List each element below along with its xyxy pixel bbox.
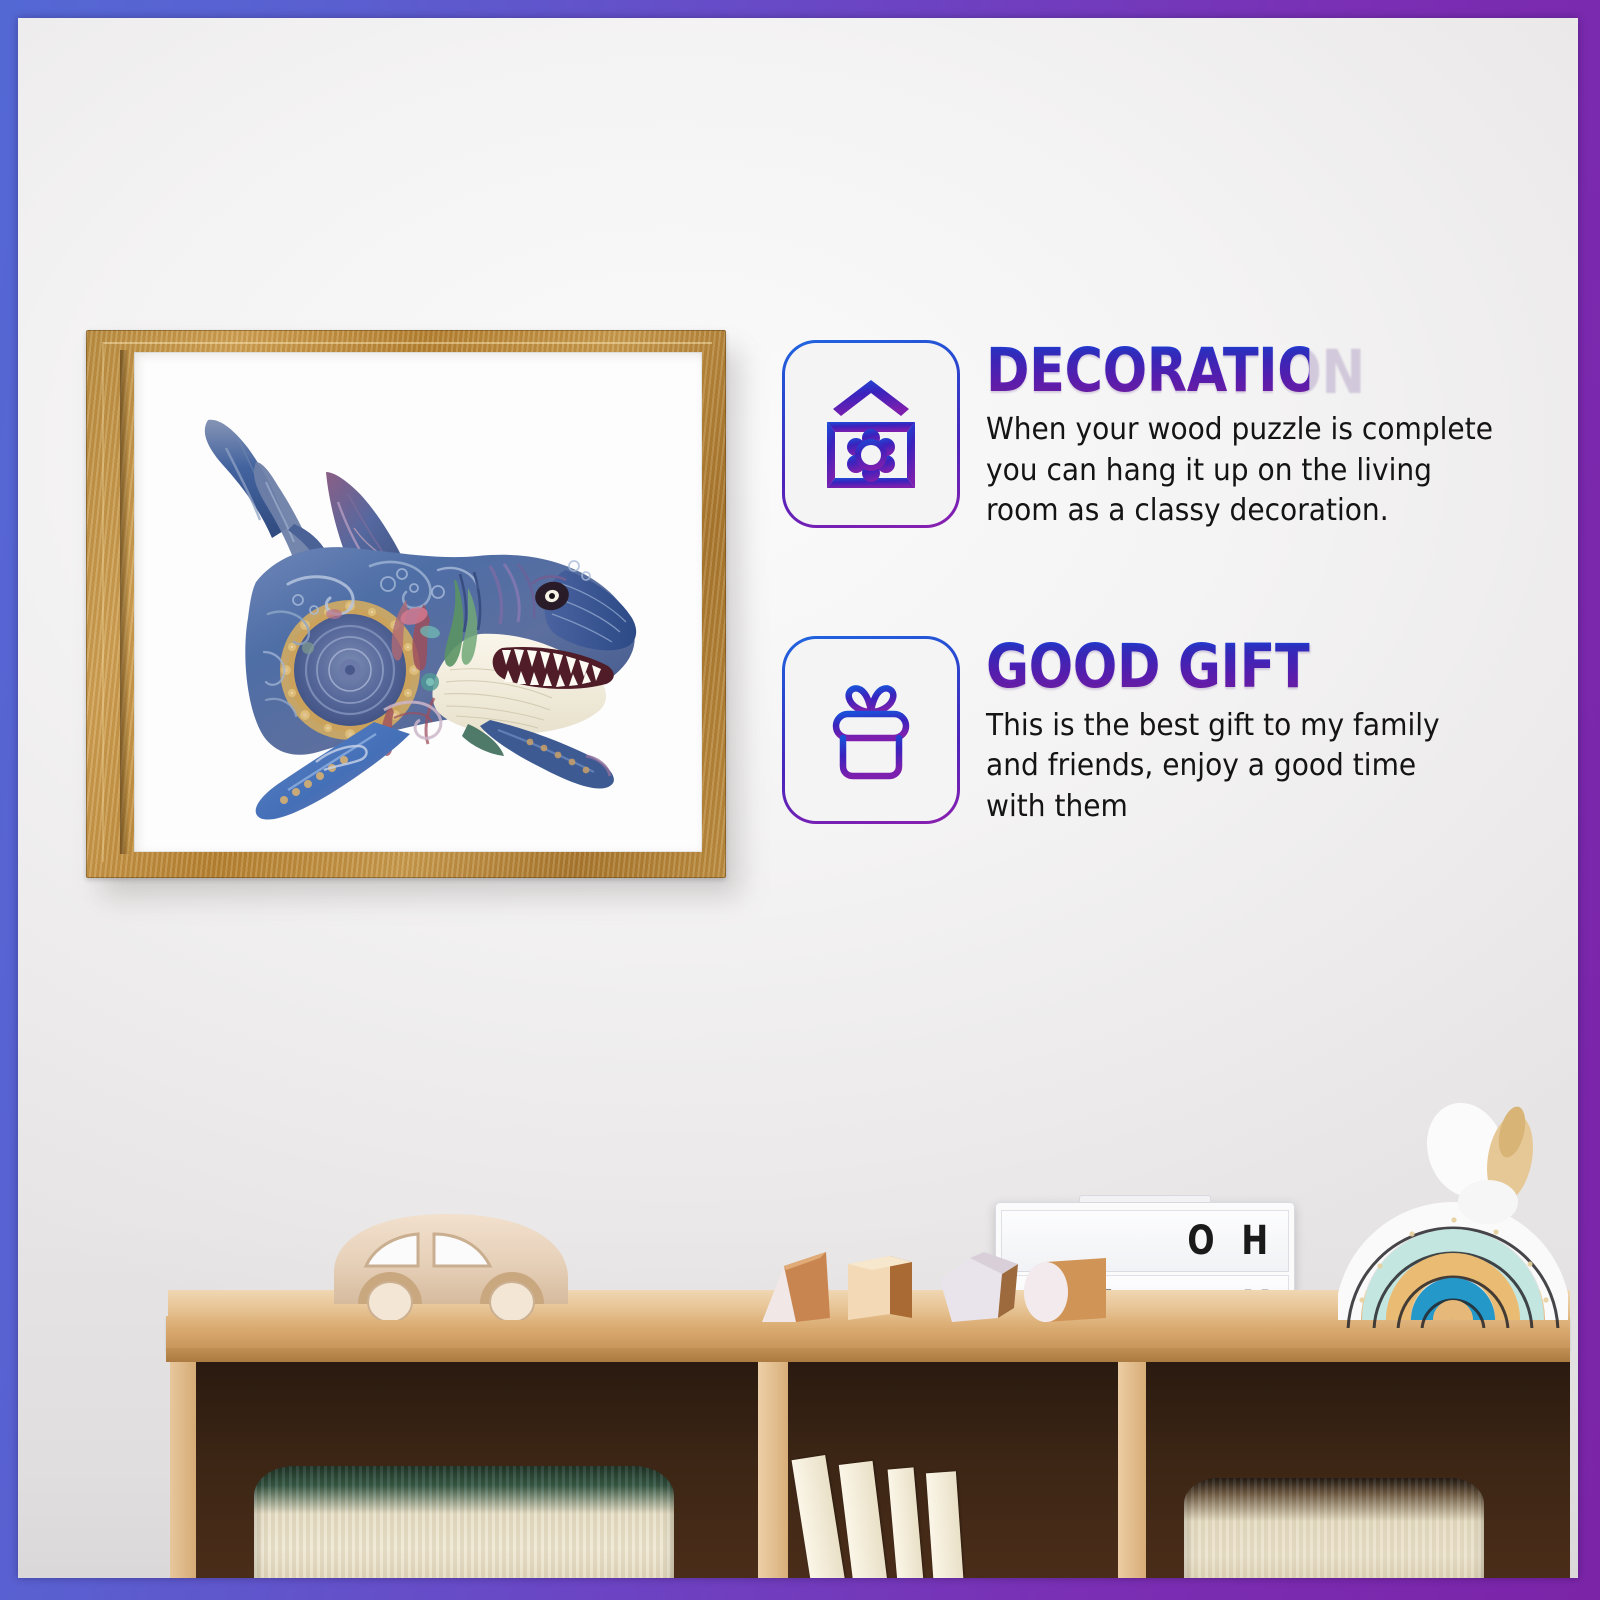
woven-basket-right	[1184, 1478, 1484, 1578]
gradient-border-page: DECORATION When your wood puzzle is comp…	[0, 0, 1600, 1600]
book	[926, 1471, 964, 1578]
gift-body-line-3: with them	[986, 787, 1360, 828]
decoration-body-line-1: When your wood puzzle is complete	[986, 410, 1360, 451]
artwork-canvas	[134, 352, 702, 852]
decoration-title: DECORATION	[986, 342, 1309, 400]
toy-car-svg	[318, 1208, 586, 1320]
wooden-toy-car	[318, 1208, 586, 1320]
decoration-body: When your wood puzzle is complete you ca…	[986, 410, 1360, 532]
toy-shelf-unit	[18, 1178, 1578, 1578]
decoration-icon-inner	[785, 343, 957, 525]
gift-box-icon	[813, 668, 929, 792]
gift-body: This is the best gift to my family and f…	[986, 706, 1360, 828]
gift-icon-box	[782, 636, 960, 824]
feature-good-gift: GOOD GIFT This is the best gift to my fa…	[782, 636, 1362, 828]
decoration-icon-box	[782, 340, 960, 528]
gift-text: GOOD GIFT This is the best gift to my fa…	[986, 636, 1362, 828]
wooden-block-set	[756, 1226, 1106, 1326]
shelf-front-edge	[166, 1348, 1570, 1362]
bunny-svg	[1414, 1098, 1544, 1228]
woven-basket-left	[254, 1466, 674, 1578]
book	[839, 1461, 888, 1578]
gift-body-line-1: This is the best gift to my family	[986, 706, 1360, 747]
blocks-svg	[756, 1226, 1106, 1326]
shark-artwork-svg	[134, 352, 702, 852]
shelf-leg-left	[170, 1362, 196, 1578]
plush-bunny-toy	[1414, 1098, 1544, 1228]
gift-body-line-2: and friends, enjoy a good time	[986, 746, 1360, 787]
gift-icon-inner	[785, 639, 957, 821]
picture-frame[interactable]	[86, 330, 726, 878]
shelf-leg-middle	[758, 1362, 788, 1578]
picture-frame-icon	[813, 372, 929, 496]
book	[888, 1467, 924, 1578]
feature-decoration: DECORATION When your wood puzzle is comp…	[782, 340, 1362, 532]
feature-list: DECORATION When your wood puzzle is comp…	[782, 340, 1362, 827]
shelf-leg-middle-2	[1118, 1362, 1146, 1578]
product-scene: DECORATION When your wood puzzle is comp…	[18, 18, 1578, 1578]
gift-title: GOOD GIFT	[986, 638, 1309, 696]
decoration-body-line-2: you can hang it up on the living	[986, 451, 1360, 492]
decoration-body-line-3: room as a classy decoration.	[986, 491, 1360, 532]
book-stack	[808, 1448, 1018, 1578]
decoration-text: DECORATION When your wood puzzle is comp…	[986, 340, 1362, 532]
